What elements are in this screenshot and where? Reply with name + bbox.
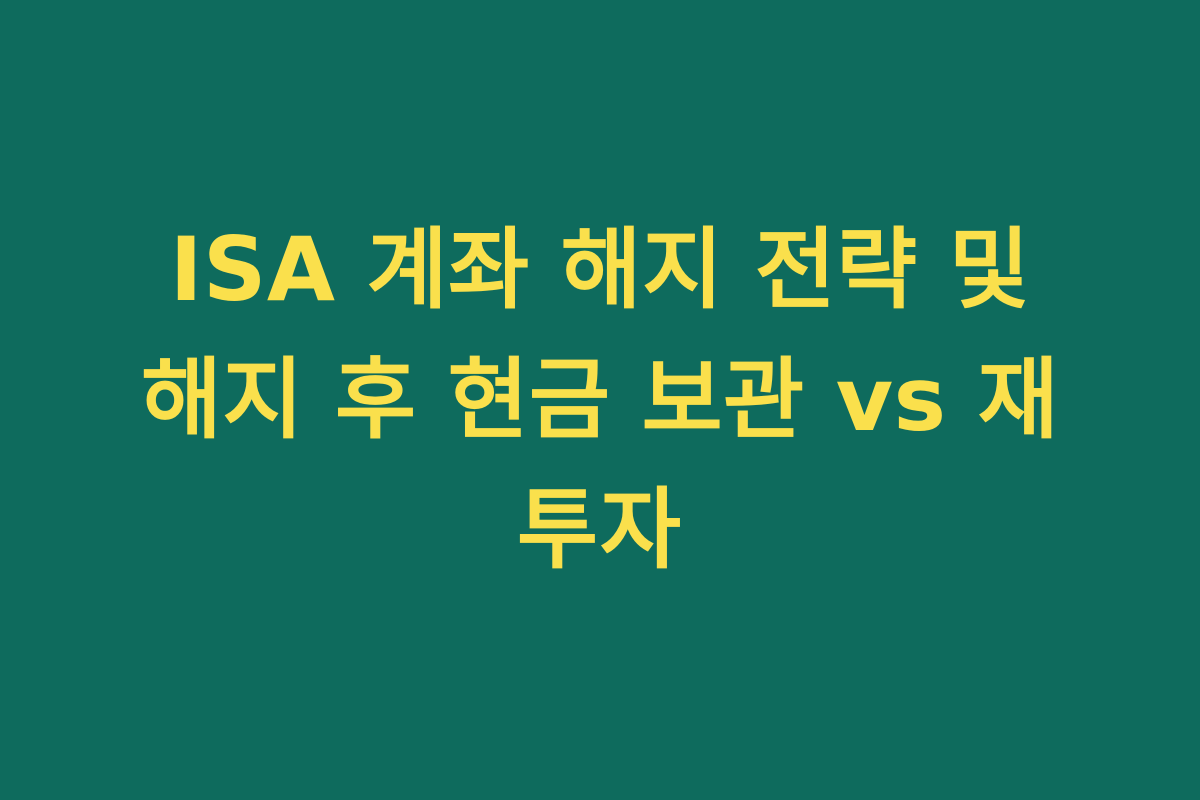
headline-line-3: 투자 (66, 465, 1134, 595)
headline-line-2: 해지 후 현금 보관 vs 재 (66, 335, 1134, 465)
headline-block: ISA 계좌 해지 전략 및 해지 후 현금 보관 vs 재 투자 (50, 205, 1150, 595)
headline-line-1: ISA 계좌 해지 전략 및 (66, 205, 1134, 335)
thumbnail-card: ISA 계좌 해지 전략 및 해지 후 현금 보관 vs 재 투자 (0, 0, 1200, 800)
